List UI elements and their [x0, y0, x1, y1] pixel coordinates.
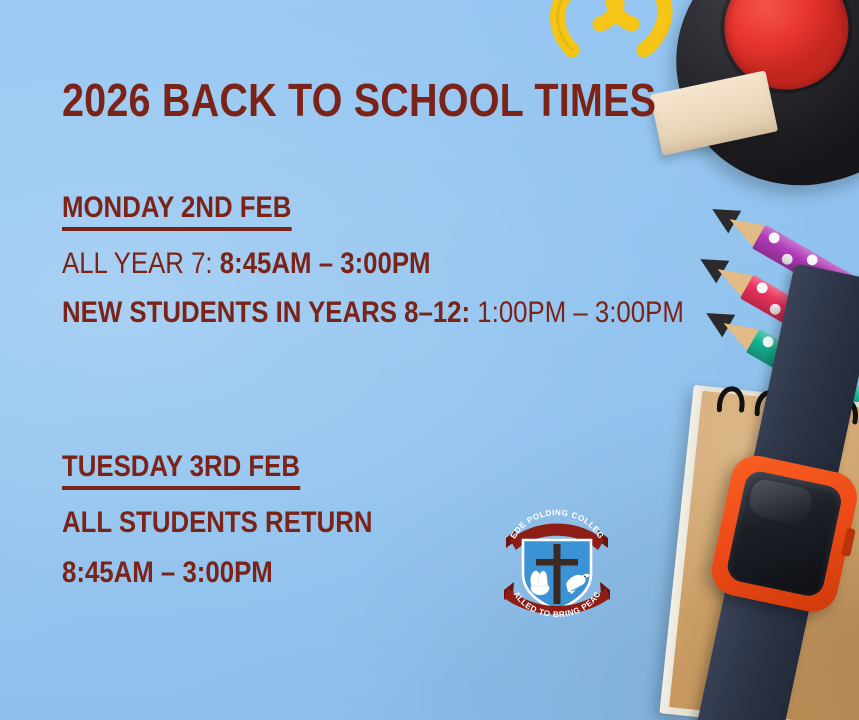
- schedule-group-label: ALL YEAR 7:: [62, 247, 213, 280]
- schedule-time-value: 8:45AM – 3:00PM: [220, 247, 431, 280]
- crest-praying-hands-icon: [531, 571, 550, 595]
- schedule-day-heading-tuesday: TUESDAY 3RD FEB: [62, 450, 300, 490]
- page-title: 2026 BACK TO SCHOOL TIMES: [62, 76, 664, 125]
- schedule-group-label: NEW STUDENTS IN YEARS 8–12:: [62, 296, 470, 329]
- crest-cross-vertical: [554, 544, 561, 604]
- schedule-group-label: ALL STUDENTS RETURN: [62, 506, 373, 539]
- poster-canvas: 2026 BACK TO SCHOOL TIMES MONDAY 2ND FEB…: [0, 0, 859, 720]
- schedule-time-value: 8:45AM – 3:00PM: [62, 556, 273, 589]
- school-crest-logo: BEDE POLDING COLLEGE: [498, 508, 616, 618]
- crest-cross-horizontal: [536, 559, 578, 566]
- poster-text-block: 2026 BACK TO SCHOOL TIMES MONDAY 2ND FEB…: [62, 76, 762, 589]
- schedule-time-value: 1:00PM – 3:00PM: [477, 296, 684, 329]
- section-spacer: [62, 330, 762, 384]
- schedule-row-year7: ALL YEAR 7: 8:45AM – 3:00PM: [62, 247, 664, 281]
- schedule-day-heading-monday: MONDAY 2ND FEB: [62, 191, 291, 231]
- schedule-row-new-students: NEW STUDENTS IN YEARS 8–12: 1:00PM – 3:0…: [62, 296, 664, 330]
- watch-strap-top: [751, 263, 859, 488]
